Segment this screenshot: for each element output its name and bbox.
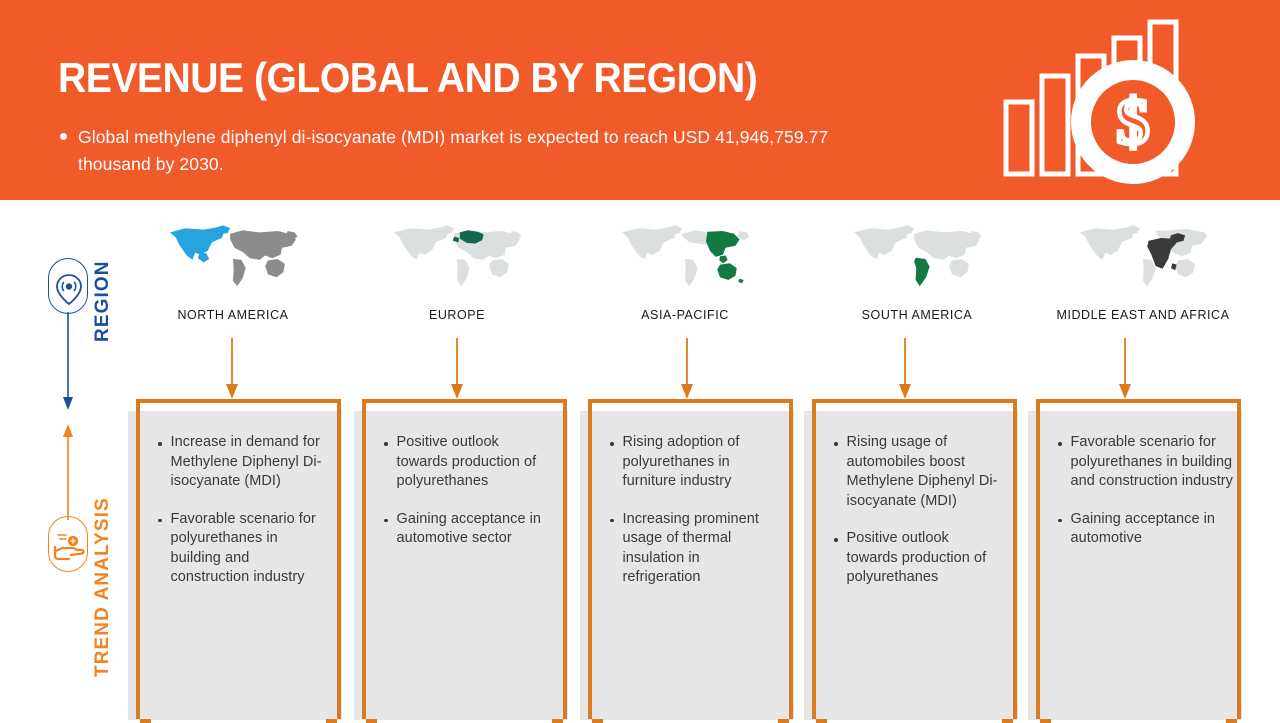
world-map-middle-east-africa-highlight bbox=[1030, 216, 1256, 302]
rail-label-trend: TREND ANALYSIS bbox=[92, 432, 114, 677]
page-title: REVENUE (GLOBAL AND BY REGION) bbox=[58, 54, 757, 102]
trend-text: Rising adoption of polyurethanes in furn… bbox=[623, 433, 781, 492]
dollar-bar-chart-icon: $ bbox=[1000, 18, 1240, 188]
hand-insight-icon bbox=[49, 517, 89, 573]
trend-bullet-list: Rising usage of automobiles boost Methyl… bbox=[834, 433, 1004, 606]
trend-text: Increasing prominent usage of thermal in… bbox=[623, 510, 781, 588]
region-column-2: EUROPE bbox=[344, 216, 570, 322]
region-label: EUROPE bbox=[344, 308, 570, 322]
world-map-north-america-highlight bbox=[120, 216, 346, 302]
trend-bullet-list: Favorable scenario for polyurethanes in … bbox=[1058, 433, 1233, 567]
header-bullet-text: Global methylene diphenyl di-isocyanate … bbox=[78, 124, 860, 178]
trend-text: Favorable scenario for polyurethanes in … bbox=[171, 510, 329, 588]
world-map-south-america-highlight bbox=[804, 216, 1030, 302]
bullet-dot-icon bbox=[158, 519, 162, 523]
list-item: Favorable scenario for polyurethanes in … bbox=[1058, 433, 1233, 492]
region-label: SOUTH AMERICA bbox=[804, 308, 1030, 322]
header-bullet: Global methylene diphenyl di-isocyanate … bbox=[60, 124, 860, 178]
bullet-dot-icon bbox=[610, 519, 614, 523]
trend-bullet-list: Rising adoption of polyurethanes in furn… bbox=[610, 433, 780, 606]
list-item: Positive outlook towards production of p… bbox=[834, 529, 1004, 588]
region-label: ASIA-PACIFIC bbox=[572, 308, 798, 322]
world-map-europe-highlight bbox=[344, 216, 570, 302]
bullet-dot-icon bbox=[60, 133, 67, 140]
bullet-dot-icon bbox=[384, 519, 388, 523]
bullet-dot-icon bbox=[384, 442, 388, 446]
connector-arrow-4-icon bbox=[898, 338, 912, 400]
trend-text: Positive outlook towards production of p… bbox=[847, 529, 1005, 588]
list-item: Gaining acceptance in automotive bbox=[1058, 510, 1233, 549]
list-item: Rising usage of automobiles boost Methyl… bbox=[834, 433, 1004, 511]
bullet-dot-icon bbox=[834, 442, 838, 446]
rail-label-region: REGION bbox=[92, 232, 114, 342]
region-column-5: MIDDLE EAST AND AFRICA bbox=[1030, 216, 1256, 322]
region-rail-arrow-icon bbox=[61, 312, 75, 412]
trend-text: Favorable scenario for polyurethanes in … bbox=[1071, 433, 1234, 492]
svg-text:$: $ bbox=[1117, 86, 1150, 159]
connector-arrow-5-icon bbox=[1118, 338, 1132, 400]
bullet-dot-icon bbox=[610, 442, 614, 446]
connector-arrow-2-icon bbox=[450, 338, 464, 400]
world-map-asia-pacific-highlight bbox=[572, 216, 798, 302]
region-badge bbox=[48, 258, 88, 314]
trend-bullet-list: Positive outlook towards production of p… bbox=[384, 433, 554, 567]
bullet-dot-icon bbox=[1058, 519, 1062, 523]
list-item: Positive outlook towards production of p… bbox=[384, 433, 554, 492]
trend-text: Gaining acceptance in automotive bbox=[1071, 510, 1234, 549]
connector-arrow-1-icon bbox=[225, 338, 239, 400]
list-item: Increasing prominent usage of thermal in… bbox=[610, 510, 780, 588]
header-banner: REVENUE (GLOBAL AND BY REGION) Global me… bbox=[0, 0, 1280, 200]
connector-arrow-3-icon bbox=[680, 338, 694, 400]
region-label: NORTH AMERICA bbox=[120, 308, 346, 322]
trend-text: Positive outlook towards production of p… bbox=[397, 433, 555, 492]
trend-text: Increase in demand for Methylene Dipheny… bbox=[171, 433, 329, 492]
location-pin-icon bbox=[49, 259, 89, 315]
trend-rail-arrow-icon bbox=[61, 424, 75, 520]
bullet-dot-icon bbox=[158, 442, 162, 446]
trend-badge bbox=[48, 516, 88, 572]
list-item: Gaining acceptance in automotive sector bbox=[384, 510, 554, 549]
trend-text: Gaining acceptance in automotive sector bbox=[397, 510, 555, 549]
region-column-1: NORTH AMERICA bbox=[120, 216, 346, 322]
list-item: Increase in demand for Methylene Dipheny… bbox=[158, 433, 328, 492]
trend-text: Rising usage of automobiles boost Methyl… bbox=[847, 433, 1005, 511]
list-item: Rising adoption of polyurethanes in furn… bbox=[610, 433, 780, 492]
bullet-dot-icon bbox=[834, 538, 838, 542]
trend-bullet-list: Increase in demand for Methylene Dipheny… bbox=[158, 433, 328, 606]
list-item: Favorable scenario for polyurethanes in … bbox=[158, 510, 328, 588]
infographic-slide: REVENUE (GLOBAL AND BY REGION) Global me… bbox=[0, 0, 1280, 720]
bullet-dot-icon bbox=[1058, 442, 1062, 446]
region-column-4: SOUTH AMERICA bbox=[804, 216, 1030, 322]
region-label: MIDDLE EAST AND AFRICA bbox=[1030, 308, 1256, 322]
region-column-3: ASIA-PACIFIC bbox=[572, 216, 798, 322]
